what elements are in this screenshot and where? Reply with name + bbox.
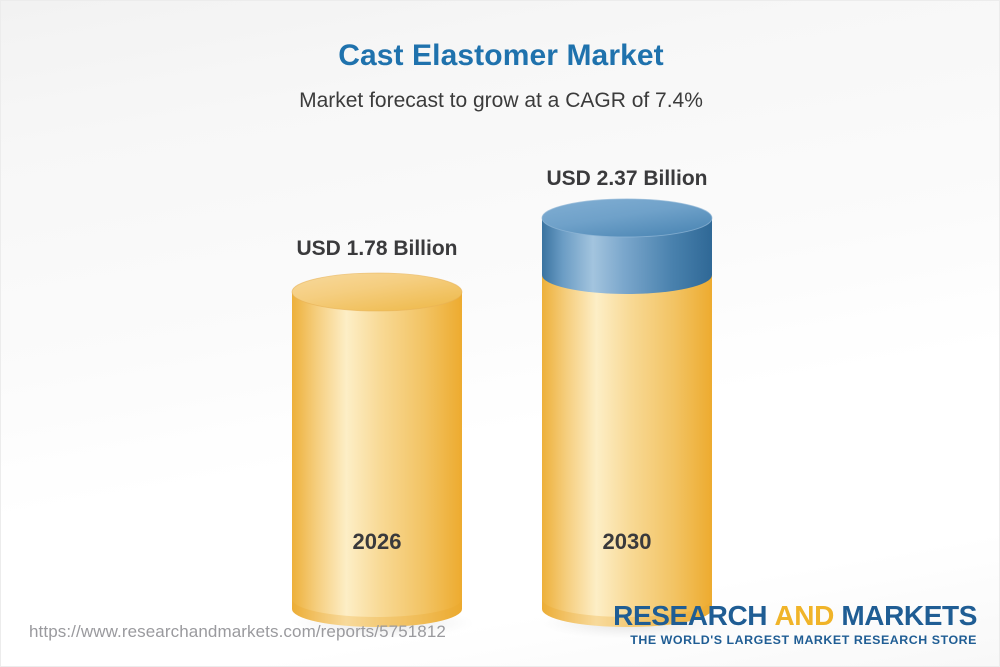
source-url[interactable]: https://www.researchandmarkets.com/repor… <box>29 622 446 642</box>
logo-research-text: RESEARCH <box>613 600 767 631</box>
cylinder-body <box>292 292 462 627</box>
logo-wordmark: RESEARCH AND MARKETS <box>613 601 977 630</box>
cylinder-body-base <box>542 275 712 627</box>
bar-year-label-2026: 2026 <box>257 529 497 555</box>
bar-chart-plot: USD 1.78 Billion <box>1 1 1000 601</box>
bar-year-label-2030: 2030 <box>507 529 747 555</box>
bar-value-label-2030: USD 2.37 Billion <box>507 167 747 191</box>
chart-canvas: Cast Elastomer Market Market forecast to… <box>0 0 1000 667</box>
logo-and-text: AND <box>774 600 833 631</box>
cylinder-2030 <box>542 203 712 639</box>
logo-tagline: THE WORLD'S LARGEST MARKET RESEARCH STOR… <box>613 633 977 647</box>
research-and-markets-logo[interactable]: RESEARCH AND MARKETS THE WORLD'S LARGEST… <box>613 601 977 647</box>
logo-markets-text: MARKETS <box>841 600 977 631</box>
cylinder-2026 <box>292 277 462 639</box>
bar-value-label-2026: USD 1.78 Billion <box>257 237 497 261</box>
